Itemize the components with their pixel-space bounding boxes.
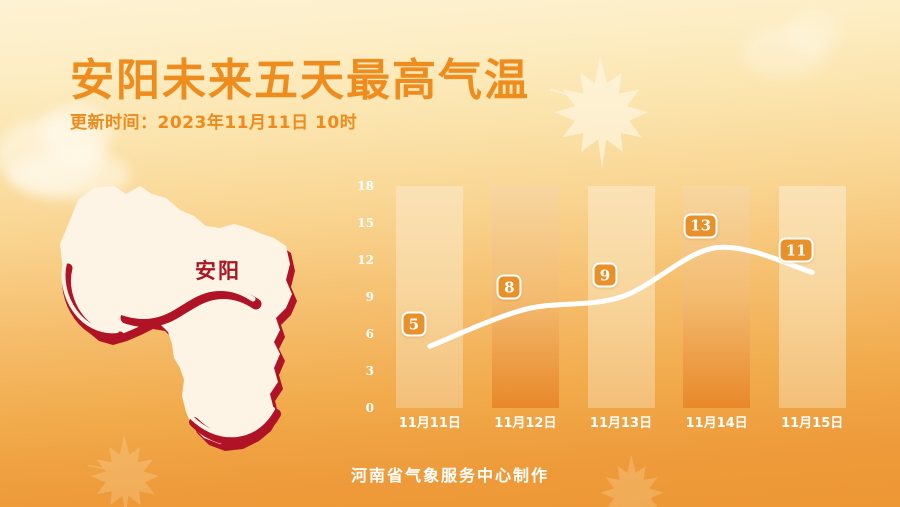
temperature-badge: 9	[593, 263, 618, 288]
temperature-badge: 13	[683, 213, 718, 238]
infographic-canvas: 安阳未来五天最高气温 更新时间：2023年11月11日 10时	[0, 0, 900, 507]
temperature-badge: 5	[401, 312, 426, 337]
y-axis-tick: 15	[346, 216, 374, 230]
temperature-line	[382, 186, 860, 408]
x-axis-tick: 11月11日	[399, 412, 461, 431]
y-axis-tick: 0	[346, 401, 374, 415]
anyang-map	[48, 172, 328, 462]
y-axis-tick: 3	[346, 364, 374, 378]
update-time-label: 更新时间：2023年11月11日 10时	[70, 108, 357, 133]
y-axis-tick: 18	[346, 179, 374, 193]
y-axis-tick: 6	[346, 327, 374, 341]
temperature-chart: 1815129630 11月11日11月12日11月13日11月14日11月15…	[340, 186, 860, 426]
maple-leaf-icon	[548, 52, 652, 170]
x-axis-tick: 11月12日	[494, 412, 556, 431]
x-axis-tick: 11月14日	[686, 412, 748, 431]
temperature-badge: 11	[779, 238, 814, 263]
y-axis-tick: 12	[346, 253, 374, 267]
cloud-icon	[786, 12, 842, 54]
temperature-badge: 8	[497, 275, 522, 300]
x-axis-tick: 11月13日	[590, 412, 652, 431]
page-title: 安阳未来五天最高气温	[70, 44, 530, 108]
y-axis-tick: 9	[346, 290, 374, 304]
y-axis: 1815129630	[340, 186, 374, 426]
map-region-label: 安阳	[195, 255, 241, 285]
plot-area: 11月11日11月12日11月13日11月14日11月15日5891311	[382, 186, 860, 408]
x-axis-tick: 11月15日	[781, 412, 843, 431]
footer-credit: 河南省气象服务中心制作	[0, 462, 900, 486]
